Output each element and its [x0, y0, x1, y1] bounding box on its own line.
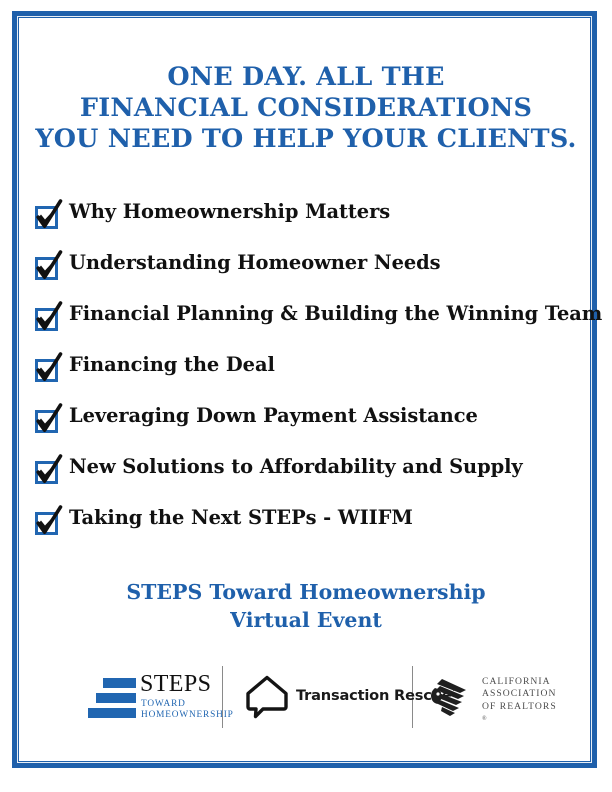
list-item: Understanding Homeowner Needs — [33, 247, 593, 298]
checkbox-checked-icon — [33, 251, 65, 282]
list-item-label: New Solutions to Affordability and Suppl… — [69, 451, 523, 483]
checkbox-checked-icon — [33, 302, 65, 333]
car-line-3: OF REALTORS — [482, 701, 557, 713]
steps-tagline-line-2: HOMEOWNERSHIP — [141, 710, 234, 721]
list-item-label: Why Homeownership Matters — [69, 196, 390, 228]
list-item-label: Leveraging Down Payment Assistance — [69, 400, 478, 432]
headline-line-2: FINANCIAL CONSIDERATIONS — [18, 93, 594, 124]
list-item-label: Financial Planning & Building the Winnin… — [69, 298, 602, 330]
steps-wordmark: STEPS — [140, 672, 211, 696]
list-item-label: Understanding Homeowner Needs — [69, 247, 441, 279]
transaction-rescue-logo: Transaction Rescue™ — [244, 670, 404, 722]
event-title-line-1: STEPS Toward Homeownership — [18, 578, 594, 606]
registered-symbol: ® — [482, 713, 557, 725]
list-item: Financial Planning & Building the Winnin… — [33, 298, 593, 349]
steps-bars-icon — [88, 678, 136, 720]
car-line-1: CALIFORNIA — [482, 676, 557, 688]
car-line-3-wrap: OF REALTORS® — [482, 701, 557, 726]
headline-line-1: ONE DAY. ALL THE — [18, 62, 594, 93]
steps-logo: STEPS TOWARD HOMEOWNERSHIP — [88, 672, 214, 724]
flyer-page: ONE DAY. ALL THE FINANCIAL CONSIDERATION… — [0, 0, 612, 792]
car-wordmark: CALIFORNIA ASSOCIATION OF REALTORS® — [482, 676, 557, 726]
list-item: Taking the Next STEPs - WIIFM — [33, 502, 593, 553]
list-item: Financing the Deal — [33, 349, 593, 400]
checklist: Why Homeownership Matters Understanding … — [33, 196, 593, 553]
checkbox-checked-icon — [33, 455, 65, 486]
steps-tagline-line-1: TOWARD — [141, 699, 186, 710]
checkbox-checked-icon — [33, 506, 65, 537]
page-title: ONE DAY. ALL THE FINANCIAL CONSIDERATION… — [18, 62, 594, 155]
house-speech-bubble-icon — [244, 673, 290, 719]
car-bear-mark-icon — [428, 674, 474, 720]
checkbox-checked-icon — [33, 404, 65, 435]
checkbox-checked-icon — [33, 353, 65, 384]
list-item: Leveraging Down Payment Assistance — [33, 400, 593, 451]
event-title-line-2: Virtual Event — [18, 606, 594, 634]
list-item-label: Financing the Deal — [69, 349, 275, 381]
checkbox-checked-icon — [33, 200, 65, 231]
list-item-label: Taking the Next STEPs - WIIFM — [69, 502, 413, 534]
logo-strip: STEPS TOWARD HOMEOWNERSHIP Transaction R… — [60, 660, 560, 740]
car-logo: CALIFORNIA ASSOCIATION OF REALTORS® — [428, 670, 568, 722]
headline-line-3: YOU NEED TO HELP YOUR CLIENTS. — [18, 124, 594, 155]
list-item: Why Homeownership Matters — [33, 196, 593, 247]
list-item: New Solutions to Affordability and Suppl… — [33, 451, 593, 502]
car-line-2: ASSOCIATION — [482, 688, 557, 700]
event-title: STEPS Toward Homeownership Virtual Event — [18, 578, 594, 634]
